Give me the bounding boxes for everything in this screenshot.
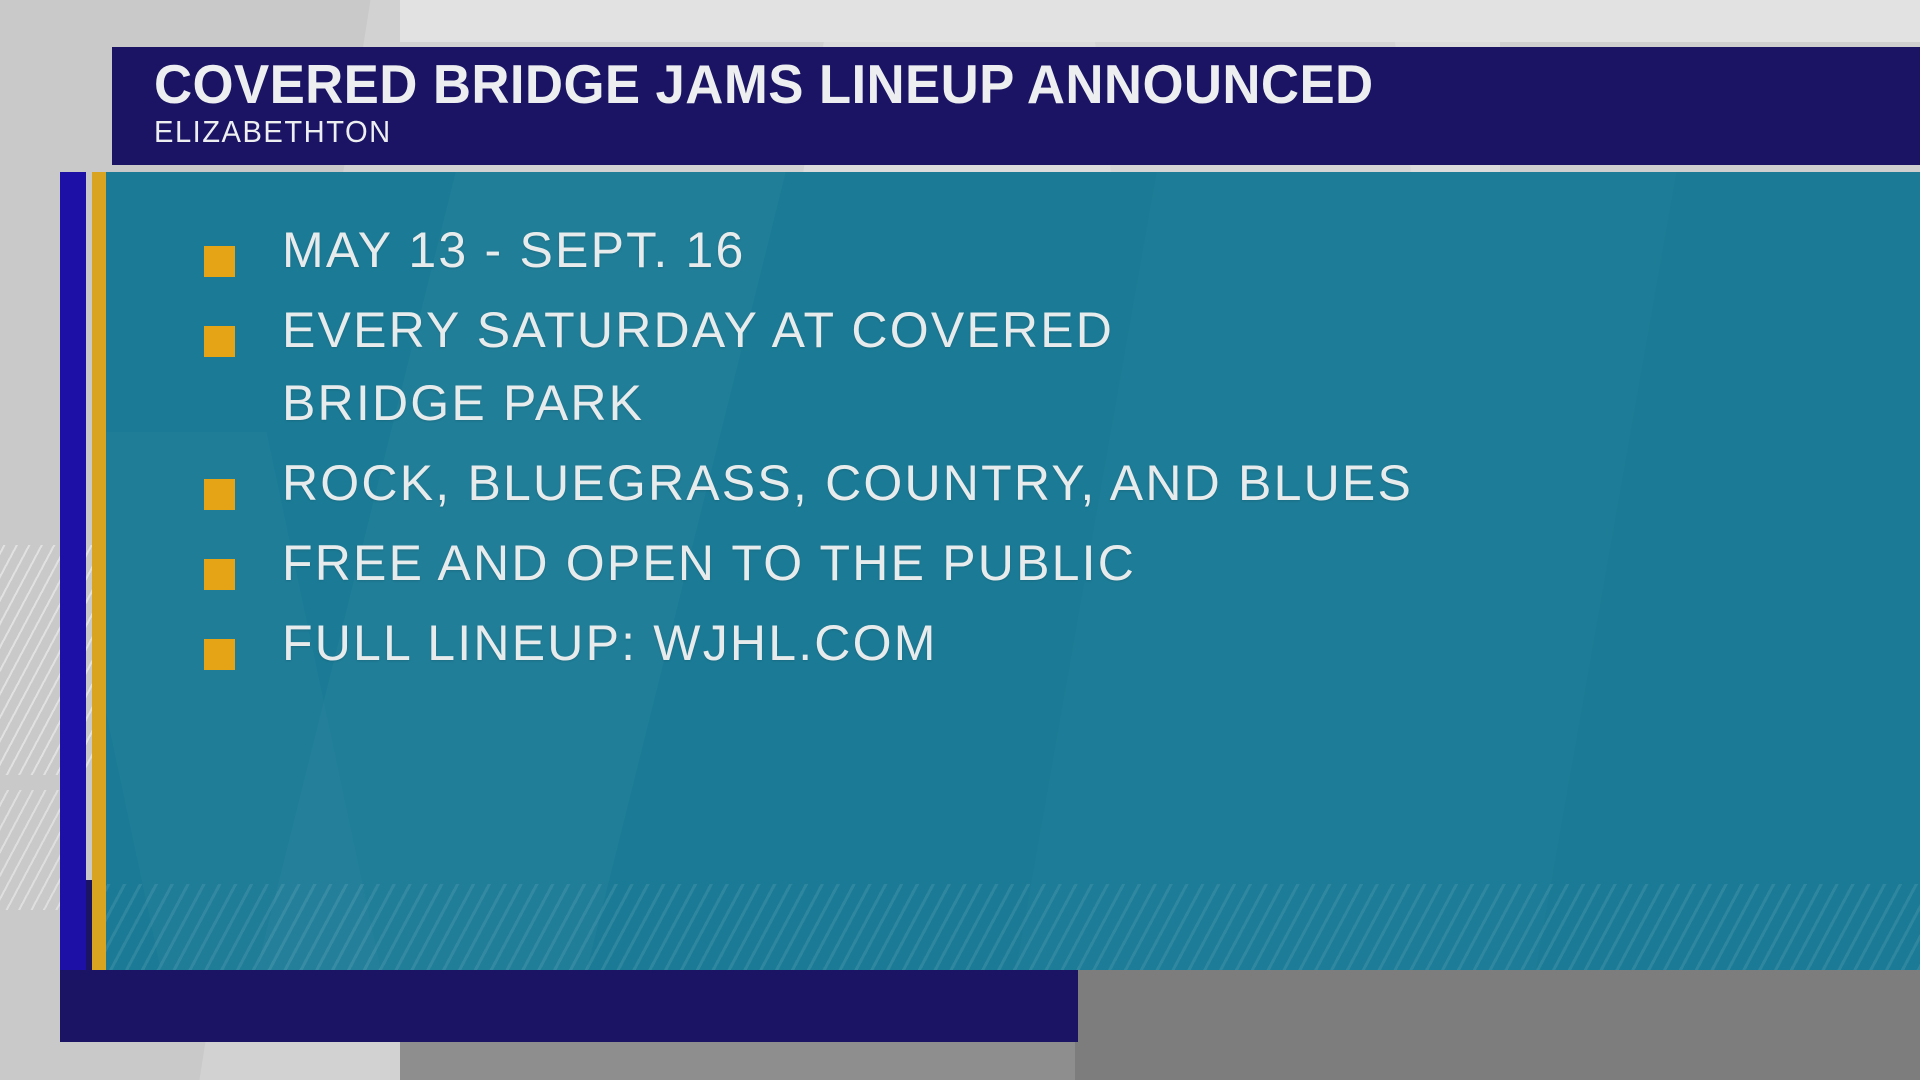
- square-bullet-icon: [204, 479, 235, 510]
- content-panel: MAY 13 - SEPT. 16 EVERY SATURDAY AT COVE…: [106, 172, 1920, 970]
- square-bullet-icon: [204, 639, 235, 670]
- list-item-label: ROCK, BLUEGRASS, COUNTRY, AND BLUES: [282, 447, 1413, 520]
- bullet-list: MAY 13 - SEPT. 16 EVERY SATURDAY AT COVE…: [106, 172, 1920, 687]
- accent-stripe-gold: [92, 172, 106, 970]
- list-item-label: FULL LINEUP: WJHL.COM: [282, 607, 938, 680]
- list-item: EVERY SATURDAY AT COVERED BRIDGE PARK: [106, 294, 1920, 440]
- header-bar: COVERED BRIDGE JAMS LINEUP ANNOUNCED ELI…: [112, 47, 1920, 165]
- list-item: MAY 13 - SEPT. 16: [106, 214, 1920, 287]
- list-item-label: FREE AND OPEN TO THE PUBLIC: [282, 527, 1136, 600]
- square-bullet-icon: [204, 246, 235, 277]
- list-item: FULL LINEUP: WJHL.COM: [106, 607, 1920, 680]
- list-item: FREE AND OPEN TO THE PUBLIC: [106, 527, 1920, 600]
- page-title: COVERED BRIDGE JAMS LINEUP ANNOUNCED: [154, 54, 1849, 114]
- background-bottom-bar-dark: [1075, 966, 1920, 1080]
- list-item-label: MAY 13 - SEPT. 16: [282, 214, 746, 287]
- square-bullet-icon: [204, 326, 235, 357]
- panel-hatch-pattern: [106, 884, 1920, 970]
- list-item-label: EVERY SATURDAY AT COVERED BRIDGE PARK: [282, 294, 1114, 440]
- square-bullet-icon: [204, 559, 235, 590]
- accent-stripe-blue: [60, 172, 86, 970]
- location-subtitle: ELIZABETHTON: [154, 114, 1814, 150]
- background-top-band: [400, 0, 1920, 42]
- list-item: ROCK, BLUEGRASS, COUNTRY, AND BLUES: [106, 447, 1920, 520]
